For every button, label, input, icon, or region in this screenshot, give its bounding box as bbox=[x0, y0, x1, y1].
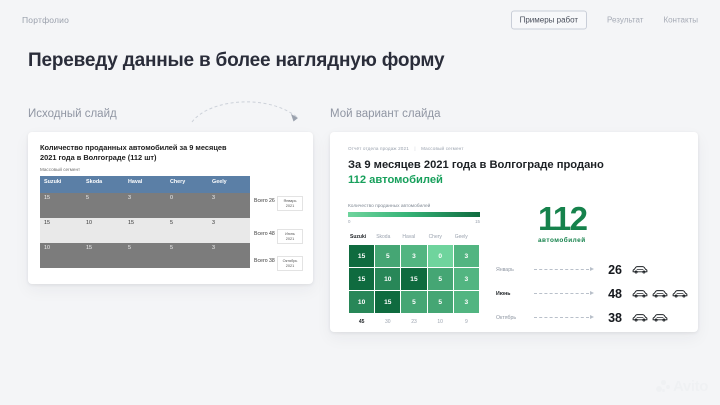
col-total: 45 bbox=[349, 314, 374, 327]
legend-title: Количество проданных автомобилей bbox=[348, 204, 480, 209]
table-row: 10 15 5 5 3 bbox=[40, 243, 250, 268]
car-icon bbox=[632, 289, 648, 298]
original-slide-subtitle: Массовый сегмент bbox=[40, 167, 301, 172]
cell: 3 bbox=[124, 193, 166, 218]
cell: 15 bbox=[40, 218, 82, 243]
cell: 3 bbox=[208, 243, 250, 268]
col-header-chery: Chery bbox=[166, 176, 208, 193]
table-row: 15 5 3 0 3 bbox=[40, 193, 250, 218]
heatmap-cell[interactable]: 3 bbox=[454, 268, 479, 290]
dashed-arrow-icon bbox=[534, 269, 594, 270]
kpi-caption: автомобилей bbox=[538, 237, 688, 244]
col-header-geely: Geely bbox=[208, 176, 250, 193]
month-row: Июнь48 bbox=[496, 282, 688, 306]
month-name: Январь bbox=[496, 267, 534, 273]
heatmap-cell[interactable]: 15 bbox=[375, 291, 400, 313]
heatmap-row: 15101553 bbox=[349, 268, 479, 290]
heatmap-header-row: Suzuki Skoda Haval Chery Geely bbox=[349, 234, 479, 244]
table-row: 15 10 15 5 3 bbox=[40, 218, 250, 243]
month-total-value: 26 bbox=[594, 263, 622, 277]
original-table-wrapper: Suzuki Skoda Haval Chery Geely 15 5 3 0 … bbox=[40, 176, 301, 268]
cell: 0 bbox=[166, 193, 208, 218]
month-row: Октябрь38 bbox=[496, 306, 688, 330]
car-icon bbox=[632, 265, 648, 274]
col-header-suzuki[interactable]: Suzuki bbox=[349, 234, 374, 244]
car-icon bbox=[652, 289, 668, 298]
dashed-arrow-icon bbox=[534, 293, 594, 294]
month-total-value: 48 bbox=[594, 287, 622, 301]
heatmap-cell[interactable]: 5 bbox=[428, 268, 453, 290]
original-data-table: Suzuki Skoda Haval Chery Geely 15 5 3 0 … bbox=[40, 176, 250, 268]
legend-min: 0 bbox=[348, 219, 350, 224]
heatmap-cell[interactable]: 5 bbox=[375, 245, 400, 267]
nav-links: Примеры работ Результат Контакты bbox=[511, 11, 698, 30]
breadcrumb-separator: | bbox=[414, 146, 415, 151]
legend-scale: 0 15 bbox=[348, 219, 480, 224]
heatmap-row: 1015553 bbox=[349, 291, 479, 313]
car-pictogram-group bbox=[632, 265, 648, 274]
avito-logo-icon bbox=[656, 380, 670, 394]
col-total: 9 bbox=[454, 314, 479, 327]
col-header-haval: Haval bbox=[124, 176, 166, 193]
col-header-haval[interactable]: Haval bbox=[401, 234, 426, 244]
car-pictogram-group bbox=[632, 289, 688, 298]
month-breakdown-rows: Январь26Июнь48Октябрь38 bbox=[496, 258, 688, 330]
cell: 3 bbox=[208, 218, 250, 243]
col-total: 30 bbox=[375, 314, 400, 327]
nav-item-contacts[interactable]: Контакты bbox=[663, 16, 698, 25]
avito-watermark: Avito bbox=[656, 378, 708, 395]
breadcrumb-report: Отчёт отдела продаж 2021 bbox=[348, 146, 409, 151]
car-icon bbox=[652, 313, 668, 322]
car-icon bbox=[632, 313, 648, 322]
nav-item-result[interactable]: Результат bbox=[607, 16, 643, 25]
section-labels-row: Исходный слайд Мой вариант слайда bbox=[0, 98, 720, 132]
heatmap-table: Suzuki Skoda Haval Chery Geely 155303151… bbox=[348, 233, 480, 328]
heatmap-column: Количество проданных автомобилей 0 15 Su… bbox=[348, 204, 480, 329]
heatmap-cell[interactable]: 10 bbox=[375, 268, 400, 290]
car-icon bbox=[672, 289, 688, 298]
my-slide-body: Количество проданных автомобилей 0 15 Su… bbox=[348, 204, 680, 329]
dashed-arrow-icon bbox=[534, 317, 594, 318]
my-slide-title-line2: 112 автомобилей bbox=[348, 174, 443, 186]
top-navigation-bar: Портфолио Примеры работ Результат Контак… bbox=[0, 0, 720, 40]
col-header-skoda[interactable]: Skoda bbox=[375, 234, 400, 244]
legend-max: 15 bbox=[475, 219, 480, 224]
cell: 15 bbox=[82, 243, 124, 268]
heatmap-cell[interactable]: 10 bbox=[349, 291, 374, 313]
car-pictogram-group bbox=[632, 313, 668, 322]
heatmap-cell[interactable]: 15 bbox=[349, 245, 374, 267]
heatmap-cell[interactable]: 3 bbox=[454, 245, 479, 267]
heatmap-cell[interactable]: 5 bbox=[428, 291, 453, 313]
month-total-value: 38 bbox=[594, 311, 622, 325]
kpi-value: 112 bbox=[538, 204, 688, 234]
brand-portfolio[interactable]: Портфолио bbox=[22, 15, 69, 25]
kpi-block: 112 автомобилей bbox=[496, 204, 688, 243]
heatmap-totals-row: 45 30 23 10 9 bbox=[349, 314, 479, 327]
cell: 15 bbox=[40, 193, 82, 218]
row-total-label: Всего 38 bbox=[254, 258, 275, 264]
cell: 15 bbox=[124, 218, 166, 243]
avito-wordmark: Avito bbox=[673, 378, 708, 395]
legend-gradient-bar bbox=[348, 212, 480, 217]
heatmap-cell[interactable]: 3 bbox=[454, 291, 479, 313]
row-month-tag: Январь2021 bbox=[277, 196, 303, 211]
cell: 5 bbox=[166, 218, 208, 243]
row-month-tag: Октябрь2021 bbox=[277, 256, 303, 271]
my-slide-card: Отчёт отдела продаж 2021 | Массовый сегм… bbox=[330, 132, 698, 332]
label-original-slide: Исходный слайд bbox=[28, 108, 117, 120]
my-slide-title-line1: За 9 месяцев 2021 года в Волгограде прод… bbox=[348, 159, 604, 171]
original-slide-title: Количество проданных автомобилей за 9 ме… bbox=[40, 143, 230, 163]
month-row: Январь26 bbox=[496, 258, 688, 282]
table-header-row: Suzuki Skoda Haval Chery Geely bbox=[40, 176, 250, 193]
heatmap-row: 155303 bbox=[349, 245, 479, 267]
label-my-slide: Мой вариант слайда bbox=[330, 108, 441, 120]
row-total-label: Всего 48 bbox=[254, 231, 275, 237]
heatmap-cell[interactable]: 15 bbox=[401, 268, 426, 290]
kpi-column: 112 автомобилей Январь26Июнь48Октябрь38 bbox=[496, 204, 688, 329]
col-total: 10 bbox=[428, 314, 453, 327]
cell: 10 bbox=[40, 243, 82, 268]
col-header-skoda: Skoda bbox=[82, 176, 124, 193]
heatmap-body: 155303151015531015553 bbox=[349, 245, 479, 313]
heatmap-cell[interactable]: 15 bbox=[349, 268, 374, 290]
curved-arrow-icon bbox=[188, 92, 308, 126]
row-total-label: Всего 26 bbox=[254, 198, 275, 204]
nav-item-examples[interactable]: Примеры работ bbox=[511, 11, 587, 30]
original-slide-card: Количество проданных автомобилей за 9 ме… bbox=[28, 132, 313, 284]
cell: 5 bbox=[82, 193, 124, 218]
my-slide-title: За 9 месяцев 2021 года в Волгограде прод… bbox=[348, 158, 680, 188]
cell: 3 bbox=[208, 193, 250, 218]
month-name: Июнь bbox=[496, 291, 534, 297]
heatmap-cell[interactable]: 0 bbox=[428, 245, 453, 267]
page-title: Переведу данные в более наглядную форму bbox=[28, 50, 720, 72]
col-header-chery[interactable]: Chery bbox=[428, 234, 453, 244]
heatmap-cell[interactable]: 5 bbox=[401, 291, 426, 313]
breadcrumb-segment: Массовый сегмент bbox=[421, 146, 464, 151]
col-header-geely[interactable]: Geely bbox=[454, 234, 479, 244]
month-name: Октябрь bbox=[496, 315, 534, 321]
cell: 5 bbox=[166, 243, 208, 268]
cell: 10 bbox=[82, 218, 124, 243]
row-month-tag: Июнь2021 bbox=[277, 229, 303, 244]
breadcrumb: Отчёт отдела продаж 2021 | Массовый сегм… bbox=[348, 146, 680, 151]
col-total: 23 bbox=[401, 314, 426, 327]
heatmap-cell[interactable]: 3 bbox=[401, 245, 426, 267]
cell: 5 bbox=[124, 243, 166, 268]
col-header-suzuki: Suzuki bbox=[40, 176, 82, 193]
